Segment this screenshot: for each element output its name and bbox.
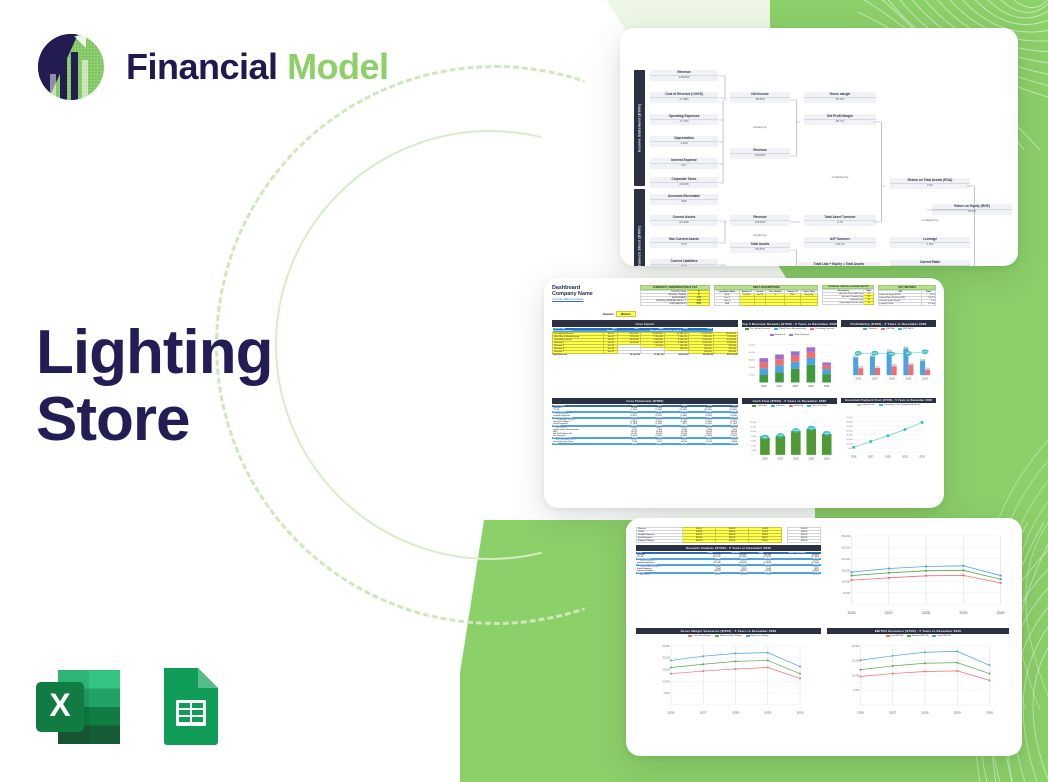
- screenshot-card-dupont[interactable]: Income Statement ($'000) Balance Sheet (…: [620, 28, 1018, 266]
- legend-item: Revenue: [863, 328, 877, 330]
- scenario-outputs-table: KPIsLowMediumHighActive (Medium) Revenue…: [636, 552, 821, 576]
- panel-working-capital-depreciation: WORKING CAPITAL & DEPRECIATION Assumptio…: [822, 285, 874, 305]
- axis-tick-label: 2027: [777, 385, 783, 388]
- axis-tick-label: 2030: [997, 611, 1005, 615]
- svg-text:5,000: 5,000: [664, 693, 671, 696]
- axis-tick-label: 2029: [902, 456, 908, 459]
- table-cell: [754, 303, 765, 306]
- svg-text:30,000: 30,000: [841, 534, 850, 538]
- scenario-outputs-rows: Revenue131,130136,800164,480136,800COGS(…: [636, 554, 821, 576]
- scenario-select[interactable]: Medium: [616, 311, 636, 317]
- node-total-assets: Total Assets50,576: [730, 242, 790, 253]
- axis-tick-label: 2026: [857, 711, 864, 715]
- svg-text:40,000: 40,000: [847, 430, 854, 432]
- legend-item: Investing: [771, 405, 785, 407]
- svg-text:15,000: 15,000: [662, 669, 670, 672]
- node-return-on-equity: Return on Equity (ROE)61.03: [932, 204, 1012, 215]
- table-cell: 30%: [688, 303, 710, 306]
- chart-legend: Pro Lighting ServicesRetail Decor Manufa…: [742, 327, 837, 337]
- dashboard-title-line2: Company Name: [552, 291, 636, 297]
- scenario-outputs-title: Scenario Outputs ($'000) - 5 Years to De…: [636, 545, 821, 551]
- chart-gross-margin-scenarios: Gross Margin Scenarios ($'000) - 5 Years…: [636, 628, 821, 722]
- table-cell: 10,907: [638, 443, 663, 445]
- core-inputs-table: Fiscal Year20262027202820292030Revenue S…: [552, 328, 738, 356]
- table-cell: 48,061: [713, 443, 738, 445]
- legend-item: Medium EBITDA: [907, 635, 928, 637]
- core-inputs-total: Total Revenue26,164,20027,461,90034,452,…: [553, 353, 738, 356]
- table-cell: 100.0%: [788, 540, 821, 543]
- scenario-sheet: Revenue80.0%100.0%120.0%100.0%COGS105.0%…: [626, 518, 1022, 756]
- chart-top5-revenue-streams: Top 5 Revenue Streams ($'000) - 5 Years …: [742, 320, 837, 394]
- headline-line-2: Store: [36, 387, 436, 454]
- table-cell: 26,164,200: [618, 353, 640, 356]
- svg-text:20,000: 20,000: [662, 657, 670, 660]
- svg-text:8,000: 8,000: [751, 436, 757, 438]
- table-row: Cash8,90010,90718,78030,10048,061: [552, 443, 738, 445]
- format-icons: X: [30, 664, 224, 750]
- node-total-asset-turnover: Total Asset Turnover2.70: [804, 215, 876, 226]
- axis-tick-label: 2028: [885, 456, 891, 459]
- chart-profitability: Profitability ($'000) - 5 Years to Decem…: [841, 320, 936, 394]
- svg-text:50,000: 50,000: [749, 344, 756, 346]
- chart-canvas: 50,00040,00030,00020,00010,000-202620272…: [742, 337, 837, 395]
- legend-item: Low EBITDA: [886, 635, 904, 637]
- axis-tick-label: 2030: [986, 711, 993, 715]
- node-return-on-total-assets: Return on Total Assets (ROA)0.97: [890, 178, 970, 189]
- node-interest-expense: Interest Expense537: [650, 158, 718, 169]
- node-depreciation: Depreciation1,265: [650, 136, 718, 147]
- svg-text:12,000: 12,000: [750, 427, 757, 429]
- svg-text:30,000: 30,000: [749, 359, 756, 361]
- panel-key-metrics: KEY METRICS KPIValue Return on Equity (R…: [878, 285, 936, 306]
- axis-tick-label: 2029: [906, 377, 912, 380]
- axis-tick-label: 2030: [824, 457, 830, 460]
- svg-text:-: -: [858, 704, 859, 707]
- table-cell: 18,780: [663, 443, 688, 445]
- band-income-statement: Income Statement ($'000): [634, 70, 645, 186]
- svg-text:-: -: [852, 453, 853, 455]
- axis-tick-label: 2029: [808, 457, 814, 460]
- core-financials-rows: Revenue26,16427,46234,45339,10245,102COG…: [552, 407, 738, 445]
- axis-tick-label: 2026: [848, 611, 856, 615]
- axis-tick-label: 2028: [732, 711, 739, 715]
- debt-table: Loan/Grant NameAmount, $LaunchTerm, Mont…: [714, 290, 818, 306]
- axis-tick-label: 2027: [885, 611, 893, 615]
- legend-item: High EBITDA: [932, 635, 950, 637]
- node-corporate-taxes: Corporate Taxes20,536: [650, 177, 718, 188]
- core-inputs-block: Core Inputs Fiscal Year20262027202820292…: [552, 320, 738, 394]
- node-operating-expenses: Operating Expenses17,754: [650, 114, 718, 125]
- panel-currency-denomination-tax: CURRENCY, DENOMINATION & TAX Currency In…: [640, 285, 711, 306]
- chart-investment-payback: Investment Payback Chart ($'000) - 5 Yea…: [841, 398, 936, 470]
- poster-canvas: Financial Model Lighting Store X: [0, 0, 1048, 782]
- node-non-current-assets: Non Current Assets570: [650, 237, 718, 248]
- svg-text:8,000: 8,000: [926, 368, 930, 370]
- table-cell: Corporate tax %: [640, 303, 688, 306]
- page-title: Lighting Store: [36, 320, 436, 454]
- table-cell: 98.0%: [749, 540, 782, 543]
- svg-text:10,000: 10,000: [750, 431, 757, 433]
- legend-item: Medium Gross Margin: [715, 635, 742, 637]
- scenario-assumption-table: Revenue80.0%100.0%120.0%100.0%COGS105.0%…: [636, 527, 821, 543]
- node-gross-margin: Gross margin65.0%: [804, 92, 876, 103]
- svg-text:40,000: 40,000: [749, 352, 756, 354]
- table-cell: 34,452,600: [664, 353, 688, 356]
- axis-tick-label: 2027: [868, 456, 874, 459]
- screenshot-card-scenarios[interactable]: Revenue80.0%100.0%120.0%100.0%COGS105.0%…: [626, 518, 1022, 756]
- axis-tick-label: 2028: [792, 385, 798, 388]
- dashboard-sheet: Dashboard Company Name Go to the Table o…: [544, 278, 944, 508]
- axis-tick-label: 2029: [808, 385, 814, 388]
- table-cell: 8,900: [613, 443, 638, 445]
- table-cell: 57.0%: [749, 574, 774, 576]
- svg-text:-: -: [756, 455, 757, 457]
- axis-tick-label: 2026: [761, 385, 767, 388]
- legend-item: Retail Decor Manufacturing: [774, 328, 806, 330]
- axis-tick-label: 2030: [919, 456, 925, 459]
- node-ar-turnover: A/R Turnover144.24: [804, 237, 876, 248]
- kpi-table: KPIValue Return on Equity (ROE)61.03Inte…: [878, 290, 936, 306]
- svg-text:10,000: 10,000: [847, 444, 854, 446]
- band-balance-sheet: Balance Sheet ($'000): [634, 189, 645, 266]
- scenario-label: Scenario: [603, 313, 614, 316]
- svg-text:50,000: 50,000: [847, 426, 854, 428]
- legend-item: High Gross Margin: [746, 635, 769, 637]
- panel-debt-assumptions: DEBT ASSUMPTIONS Loan/Grant NameAmount, …: [714, 285, 818, 306]
- chart-canvas: 14,00012,00010,0008,0006,0004,0002,000-8…: [742, 408, 837, 470]
- brand-wordmark: Financial Model: [126, 49, 389, 85]
- svg-text:10,000: 10,000: [858, 366, 863, 368]
- svg-text:2,000: 2,000: [751, 450, 757, 452]
- node-revenue-mid-2: Revenue136,800: [730, 215, 790, 226]
- axis-tick-label: 2026: [762, 457, 768, 460]
- table-cell: 39,102,000: [689, 353, 713, 356]
- screenshot-card-dashboard[interactable]: Dashboard Company Name Go to the Table o…: [544, 278, 944, 508]
- table-cell: 52.5%: [723, 574, 749, 576]
- table-cell: 30,100: [688, 443, 713, 445]
- axis-tick-label: 2026: [855, 377, 861, 380]
- svg-text:-: -: [754, 382, 755, 384]
- svg-text:-: -: [669, 704, 670, 707]
- svg-text:-: -: [849, 602, 850, 606]
- operator-multiplied-by-2: multiplied by: [890, 218, 970, 222]
- node-current-ratio: Current Ratio58.98: [890, 260, 970, 266]
- node-accounts-receivable: Accounts Receivable998: [650, 194, 718, 205]
- brand-word-financial: Financial: [126, 46, 278, 87]
- node-total-liab-equity: Total Liab + Equity = Total Assets50,576: [798, 262, 880, 266]
- svg-text:15,000: 15,000: [909, 363, 914, 365]
- svg-text:20,000: 20,000: [847, 439, 854, 441]
- chart-canvas: 25,00020,00015,00010,0005,000-2026202720…: [636, 638, 821, 722]
- axis-tick-label: 2027: [872, 377, 878, 380]
- legend-item: Payback cost: [857, 404, 875, 406]
- table-cell: Total Revenue: [553, 353, 618, 356]
- node-current-assets: Current Assets50,006: [650, 215, 718, 226]
- debt-rows: Bank100,000Jan-26728.0%Actual byTerm 2Te…: [715, 294, 818, 306]
- table-row: Salaries & Wages105.0%100.0%98.0%100.0%: [637, 540, 821, 543]
- table-cell: [739, 303, 754, 306]
- svg-text:26,000: 26,000: [853, 356, 858, 358]
- table-row: EBITDA %40.1%52.5%57.0%52.5%: [636, 574, 821, 576]
- dashboard-header: Dashboard Company Name Go to the Table o…: [552, 285, 636, 317]
- chart-canvas: 26,00010,00027,00011,00034,00013,00039,0…: [841, 331, 936, 389]
- axis-tick-label: 2026: [851, 456, 857, 459]
- operator-multiplied-by-1: multiplied by: [804, 175, 876, 179]
- svg-text:39,000: 39,000: [904, 347, 909, 349]
- table-cell: 27,461,900: [640, 353, 664, 356]
- node-current-liabilities: Current Liabilities840: [650, 259, 718, 266]
- legend-item: Consulting Services: [810, 328, 834, 330]
- table-cell: Cash: [552, 443, 613, 445]
- svg-text:10,000: 10,000: [662, 681, 670, 684]
- svg-text:6,000: 6,000: [751, 441, 757, 443]
- chart-cash-flow: Cash Flow ($'000) - 5 Years to December …: [742, 398, 837, 470]
- table-cell: 105.0%: [683, 540, 716, 543]
- brand-word-model: Model: [287, 46, 389, 87]
- axis-tick-label: 2029: [954, 711, 961, 715]
- legend-item: Revenue 4: [770, 334, 786, 336]
- legend-item: Other Revenue: [789, 334, 809, 336]
- table-row: Total Revenue26,164,20027,461,90034,452,…: [553, 353, 738, 356]
- axis-tick-label: 2026: [667, 711, 674, 715]
- table-cell: [785, 303, 800, 306]
- table-row: Payback Period1.0 Year: [879, 303, 936, 306]
- core-inputs-title: Core Inputs: [552, 320, 738, 326]
- table-cell: 100.0%: [716, 540, 749, 543]
- node-leverage: Leverage1.9%: [890, 237, 970, 248]
- legend-item: Financing: [789, 405, 804, 407]
- node-net-profit-margin: Net Profit Margin35.7%: [804, 114, 876, 125]
- svg-text:30,000: 30,000: [847, 435, 854, 437]
- svg-text:20,000: 20,000: [852, 645, 860, 648]
- axis-tick-label: 2027: [778, 457, 784, 460]
- currency-rows: Currency Input$Currency Outputs$Denomina…: [640, 291, 710, 306]
- svg-text:15,000: 15,000: [841, 568, 850, 572]
- core-financials-table: Description20262027202820292030 Revenue2…: [552, 405, 738, 445]
- legend-item: Low Gross Margin: [688, 635, 711, 637]
- svg-text:10,000: 10,000: [749, 375, 756, 377]
- axis-tick-label: 2030: [824, 385, 830, 388]
- scenario-left-column: Revenue80.0%100.0%120.0%100.0%COGS105.0%…: [636, 527, 821, 624]
- node-revenue-mid: Revenue136,800: [730, 148, 790, 159]
- chart-canvas: 30,00025,00020,00015,00010,0005,000-2026…: [827, 527, 1009, 624]
- svg-text:13,000: 13,000: [892, 364, 897, 366]
- operator-divided-by-1: divided by: [730, 125, 790, 129]
- legend-item: EBITDA: [881, 328, 894, 330]
- pie-chart-bars-icon: [34, 30, 108, 104]
- wc-rows: Accounts Receivable Days12Accounts Payab…: [823, 293, 874, 305]
- axis-tick-label: 2029: [959, 611, 967, 615]
- currency-table: Currency Input$Currency Outputs$Denomina…: [640, 290, 711, 306]
- svg-text:4,000: 4,000: [751, 445, 757, 447]
- table-cell: EBITDA %: [636, 574, 698, 576]
- table-row: Corporate tax %30%: [640, 303, 710, 306]
- scenario-top-right-chart: 30,00025,00020,00015,00010,0005,000-2026…: [827, 527, 1009, 624]
- node-cogs: Cost of Revenue (COGS)47,880: [650, 92, 718, 103]
- table-cell: 1.0 Year: [922, 303, 936, 306]
- legend-item: Net Cash Flow: [807, 405, 826, 407]
- svg-text:10,000: 10,000: [852, 675, 860, 678]
- brand-logo: Financial Model: [34, 30, 389, 104]
- wc-table: AssumptionValue Accounts Receivable Days…: [822, 289, 874, 305]
- table-cell: [766, 303, 785, 306]
- svg-text:10,000: 10,000: [841, 580, 850, 584]
- core-inputs-rows: Pro Lighting ServicesJan-268,052,80010,8…: [553, 332, 738, 353]
- node-net-income: Net Income48,828: [730, 92, 790, 103]
- chart-canvas: 70,00060,00050,00040,00030,00020,00010,0…: [841, 407, 936, 469]
- table-cell: [800, 303, 818, 306]
- legend-item: Pro Lighting Services: [745, 328, 771, 330]
- back-to-contents-link[interactable]: Go to the Table of Contents: [552, 298, 636, 301]
- core-financials-title: Core Financials ($'000): [552, 398, 738, 404]
- svg-text:X: X: [49, 687, 71, 723]
- axis-tick-label: 2030: [797, 711, 804, 715]
- svg-text:70,000: 70,000: [847, 417, 854, 419]
- axis-tick-label: 2030: [922, 377, 928, 380]
- axis-tick-label: 2027: [889, 711, 896, 715]
- svg-text:25,000: 25,000: [662, 645, 670, 648]
- table-cell: Salaries & Wages: [637, 540, 683, 543]
- svg-text:11,000: 11,000: [875, 366, 880, 368]
- table-cell: 45,101,800: [713, 353, 737, 356]
- table-cell: SBA: [715, 303, 740, 306]
- chart-canvas: 20,00015,00010,0005,000-2026202720282029…: [827, 638, 1009, 722]
- core-financials-block: Core Financials ($'000) Description20262…: [552, 398, 738, 470]
- svg-text:20,000: 20,000: [749, 367, 756, 369]
- table-cell: Depreciation Period, Years: [823, 302, 864, 305]
- table-row: SBA: [715, 303, 818, 306]
- chart-ebitda-scenarios: EBITDA Scenarios ($'000) - 5 Years to De…: [827, 628, 1009, 722]
- legend-item: EBITDA %: [898, 328, 913, 330]
- table-cell: Payback Period: [879, 303, 922, 306]
- axis-tick-label: 2027: [700, 711, 707, 715]
- svg-text:5,000: 5,000: [853, 690, 860, 693]
- headline-line-1: Lighting: [36, 320, 436, 387]
- table-cell: 40.1%: [698, 574, 723, 576]
- operator-divided-by-2: divided by: [730, 233, 790, 237]
- axis-tick-label: 2028: [922, 711, 929, 715]
- google-sheets-icon[interactable]: [154, 664, 224, 750]
- scenario-assumption-rows: Revenue80.0%100.0%120.0%100.0%COGS105.0%…: [637, 528, 821, 543]
- axis-tick-label: 2028: [889, 377, 895, 380]
- table-row: Depreciation Period, Years10: [823, 302, 874, 305]
- svg-text:14,000: 14,000: [750, 422, 757, 424]
- svg-text:5,000: 5,000: [843, 591, 851, 595]
- axis-tick-label: 2028: [922, 611, 930, 615]
- svg-text:25,000: 25,000: [841, 546, 850, 550]
- svg-text:15,000: 15,000: [852, 660, 860, 663]
- table-cell: 52.5%: [773, 574, 821, 576]
- node-revenue: Revenue136,800: [650, 70, 718, 81]
- svg-text:21,000: 21,000: [920, 359, 925, 361]
- table-cell: 10: [864, 302, 874, 305]
- kpi-rows: Return on Equity (ROE)61.03Internal Rate…: [879, 294, 936, 306]
- dupont-tree: Income Statement ($'000) Balance Sheet (…: [634, 70, 1010, 248]
- svg-text:20,000: 20,000: [841, 557, 850, 561]
- legend-item: Operating: [752, 405, 767, 407]
- microsoft-excel-icon[interactable]: X: [30, 664, 126, 750]
- legend-item: Cumulative Cash Generated (Losses): [879, 404, 921, 406]
- axis-tick-label: 2029: [764, 711, 771, 715]
- svg-text:60,000: 60,000: [847, 422, 854, 424]
- axis-tick-label: 2028: [793, 457, 799, 460]
